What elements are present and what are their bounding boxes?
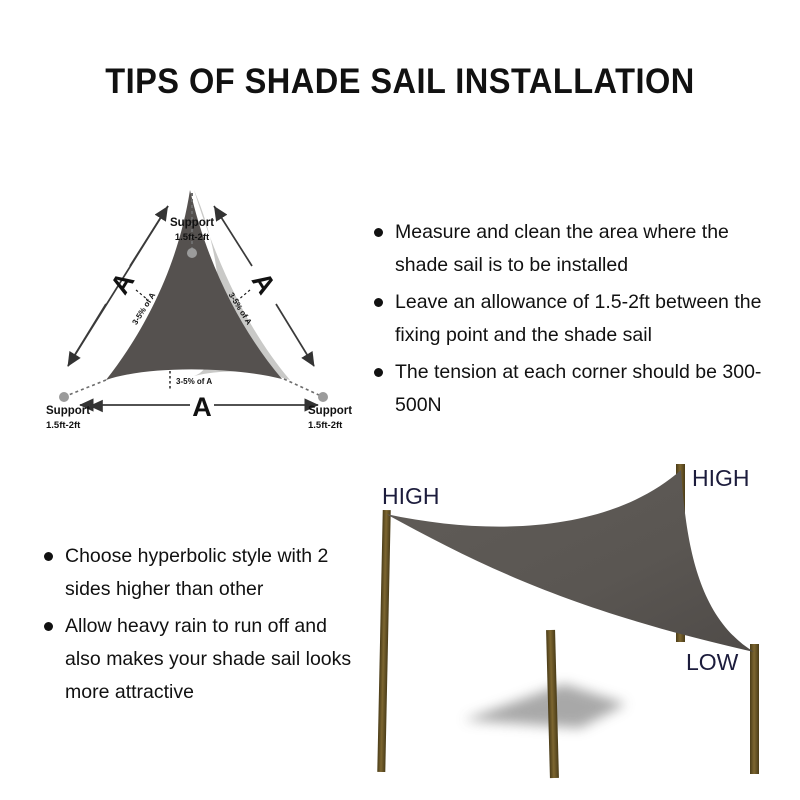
list-item: Choose hyperbolic style with 2 sides hig…	[44, 540, 364, 606]
right-rope-line	[284, 379, 321, 396]
support-left-title: Support	[46, 405, 90, 417]
left-dimension-arrow-bottom	[68, 304, 106, 366]
style-tip-text: Choose hyperbolic style with 2 sides hig…	[65, 540, 364, 606]
style-tips-list: Choose hyperbolic style with 2 sides hig…	[44, 540, 364, 713]
list-item: Measure and clean the area where the sha…	[374, 216, 786, 282]
bullet-icon	[374, 298, 383, 307]
post-left	[377, 510, 390, 772]
side-left-label: A	[104, 267, 140, 299]
triangle-sail-diagram: Support 1.5ft-2ft Support 1.5ft-2ft Supp…	[18, 118, 368, 438]
list-item: Leave an allowance of 1.5-2ft between th…	[374, 286, 786, 352]
curve-bottom-label: 3-5% of A	[176, 377, 212, 386]
list-item: Allow heavy rain to run off and also mak…	[44, 610, 364, 709]
support-left-distance: 1.5ft-2ft	[46, 420, 81, 431]
support-top-title: Support	[170, 217, 214, 229]
bullet-icon	[374, 368, 383, 377]
tip-text: Leave an allowance of 1.5-2ft between th…	[395, 286, 786, 352]
side-right-label: A	[246, 267, 282, 299]
hyperbolic-sail-svg: HIGH HIGH LOW	[368, 452, 788, 782]
list-item: The tension at each corner should be 300…	[374, 356, 786, 422]
ground-shadow	[464, 684, 626, 728]
support-right-distance: 1.5ft-2ft	[308, 420, 343, 431]
tip-text: The tension at each corner should be 300…	[395, 356, 786, 422]
triangle-diagram-svg: Support 1.5ft-2ft Support 1.5ft-2ft Supp…	[18, 118, 368, 438]
left-rope-line	[66, 380, 106, 396]
installation-tips-list: Measure and clean the area where the sha…	[374, 216, 786, 426]
tip-text: Measure and clean the area where the sha…	[395, 216, 786, 282]
label-high-right: HIGH	[692, 465, 750, 491]
sail-surface	[386, 470, 754, 652]
top-anchor-dot	[187, 248, 197, 258]
right-dimension-arrow-bottom	[276, 304, 314, 366]
left-anchor-dot	[59, 392, 69, 402]
support-top-distance: 1.5ft-2ft	[175, 232, 210, 243]
style-tip-text: Allow heavy rain to run off and also mak…	[65, 610, 364, 709]
bullet-icon	[44, 552, 53, 561]
right-dimension-arrow-top	[214, 206, 252, 266]
page-title: TIPS OF SHADE SAIL INSTALLATION	[28, 62, 772, 102]
label-high-left: HIGH	[382, 483, 440, 509]
post-right-low	[750, 644, 759, 774]
side-bottom-label: A	[192, 392, 212, 422]
label-low: LOW	[686, 649, 739, 675]
left-dimension-arrow-top	[130, 206, 168, 266]
bullet-icon	[374, 228, 383, 237]
right-anchor-dot	[318, 392, 328, 402]
support-right-title: Support	[308, 405, 352, 417]
hyperbolic-sail-photo: HIGH HIGH LOW	[368, 452, 788, 782]
bullet-icon	[44, 622, 53, 631]
